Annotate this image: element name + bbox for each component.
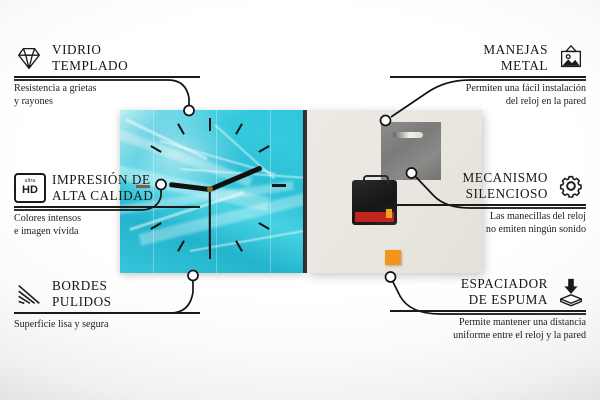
divider [14,76,200,78]
feature-title-line1: ESPACIADOR [461,276,548,292]
divider [14,312,200,314]
feature-header: VIDRIO TEMPLADO [14,42,210,73]
feature-desc-line1: Colores intensos [14,212,210,225]
divider [390,204,586,206]
feature-title-line1: MECANISMO [462,170,548,186]
wall-hanging-frame-icon [556,43,586,73]
feature-desc-line2: uniforme entre el reloj y la pared [390,329,586,342]
gear-icon [556,171,586,201]
feature-title-line1: BORDES [52,278,112,294]
feature-title-line2: SILENCIOSO [462,186,548,202]
feature-desc-line2: y rayones [14,95,210,108]
feature-title-line2: PULIDOS [52,294,112,310]
feature-description: Superficie lisa y segura [14,318,210,331]
feature-title: BORDES PULIDOS [52,278,112,309]
feature-title-line1: MANEJAS [483,42,548,58]
feature-desc-line1: Las manecillas del reloj [390,210,586,223]
feature-impresion-alta-calidad: ultra HD IMPRESIÓN DE ALTA CALIDAD Color… [14,172,210,238]
feature-bordes-pulidos: BORDES PULIDOS Superficie lisa y segura [14,278,210,331]
feature-title: MANEJAS METAL [483,42,548,73]
feature-description: Resistencia a grietas y rayones [14,82,210,108]
feature-title-line2: METAL [483,58,548,74]
diamond-icon [14,43,44,73]
divider [390,310,586,312]
feature-header: MANEJAS METAL [390,42,586,73]
feature-title-line1: IMPRESIÓN DE [52,172,153,188]
feature-espaciador-espuma: ESPACIADOR DE ESPUMA Permite mantener un… [390,276,586,342]
feature-title-line2: DE ESPUMA [461,292,548,308]
feature-description: Permiten una fácil instalación del reloj… [390,82,586,108]
feature-description: Colores intensos e imagen vívida [14,212,210,238]
feature-header: ESPACIADOR DE ESPUMA [390,276,586,307]
feature-desc-line1: Resistencia a grietas [14,82,210,95]
feature-desc-line1: Superficie lisa y segura [14,318,210,331]
feature-desc-line1: Permite mantener una distancia [390,316,586,329]
feature-description: Permite mantener una distancia uniforme … [390,316,586,342]
feature-title: VIDRIO TEMPLADO [52,42,128,73]
divider [14,206,200,208]
feature-header: MECANISMO SILENCIOSO [390,170,586,201]
infographic-canvas: VIDRIO TEMPLADO Resistencia a grietas y … [0,0,600,400]
polished-edge-icon [14,279,44,309]
feature-vidrio-templado: VIDRIO TEMPLADO Resistencia a grietas y … [14,42,210,108]
foam-spacer-arrow-icon [556,277,586,307]
feature-title-line1: VIDRIO [52,42,128,58]
ultra-hd-icon: ultra HD [14,173,44,203]
ultra-hd-icon-main-text: HD [22,185,38,196]
feature-title-line2: TEMPLADO [52,58,128,74]
feature-title: MECANISMO SILENCIOSO [462,170,548,201]
feature-desc-line2: del reloj en la pared [390,95,586,108]
feature-desc-line2: e imagen vívida [14,225,210,238]
feature-header: BORDES PULIDOS [14,278,210,309]
feature-manejas-metal: MANEJAS METAL Permiten una fácil instala… [390,42,586,108]
feature-title: IMPRESIÓN DE ALTA CALIDAD [52,172,153,203]
feature-mecanismo-silencioso: MECANISMO SILENCIOSO Las manecillas del … [390,170,586,236]
feature-title: ESPACIADOR DE ESPUMA [461,276,548,307]
feature-desc-line1: Permiten una fácil instalación [390,82,586,95]
feature-description: Las manecillas del reloj no emiten ningú… [390,210,586,236]
feature-header: ultra HD IMPRESIÓN DE ALTA CALIDAD [14,172,210,203]
feature-title-line2: ALTA CALIDAD [52,188,153,204]
divider [390,76,586,78]
feature-desc-line2: no emiten ningún sonido [390,223,586,236]
